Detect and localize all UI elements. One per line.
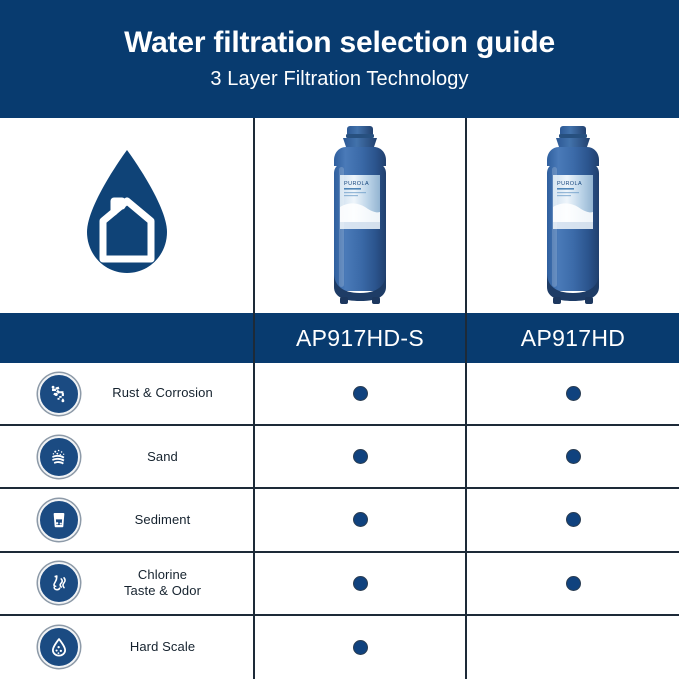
cell-ap917hd-s [255,489,467,550]
feature-label-line1: Sand [147,449,178,464]
page-title: Water filtration selection guide [124,27,555,59]
cell-ap917hd-s [255,553,467,614]
cell-ap917hd [467,553,679,614]
page-subtitle: 3 Layer Filtration Technology [210,68,468,91]
support-dot [354,450,367,463]
feature-label-line1: Rust & Corrosion [112,385,213,400]
model-name-row: AP917HD-S AP917HD [0,313,679,363]
support-dot [354,513,367,526]
support-dot [354,387,367,400]
cell-ap917hd [467,489,679,550]
support-dot [567,577,580,590]
cell-ap917hd-s [255,616,467,679]
feature-label-line2: Taste & Odor [80,583,245,599]
product-image-row: PUROLA [0,118,679,313]
support-dot [567,513,580,526]
feature-label-text: Chlorine Taste & Odor [80,567,253,600]
svg-text:PUROLA: PUROLA [557,181,582,187]
table-row: Hard Scale [0,616,679,679]
water-filter-cartridge-image: PUROLA [537,123,609,308]
product-image-ap917hd-s: PUROLA [255,118,467,313]
brand-logo-cell [0,118,255,313]
model-row-spacer [0,313,255,363]
support-dot [354,641,367,654]
header-banner: Water filtration selection guide 3 Layer… [0,0,679,118]
table-row: Chlorine Taste & Odor [0,553,679,616]
chlorine-odor-nose-icon [38,562,80,604]
hard-scale-droplet-icon [38,626,80,668]
cell-ap917hd [467,616,679,679]
feature-label-text: Rust & Corrosion [80,385,253,401]
feature-label-text: Hard Scale [80,639,253,655]
product-image-ap917hd: PUROLA [467,118,679,313]
cell-ap917hd-s [255,363,467,424]
feature-label-text: Sediment [80,512,253,528]
sediment-glass-icon [38,499,80,541]
column-header-ap917hd-s: AP917HD-S [255,313,467,363]
support-dot [567,450,580,463]
table-row: Sediment [0,489,679,552]
feature-label-line1: Hard Scale [130,639,195,654]
column-header-ap917hd: AP917HD [467,313,679,363]
feature-label-line1: Sediment [135,512,191,527]
feature-label-cell: Hard Scale [0,616,255,679]
support-dot [354,577,367,590]
feature-label-cell: Sediment [0,489,255,550]
comparison-table-body: Rust & Corrosion [0,363,679,679]
support-dot [567,387,580,400]
water-filter-cartridge-image: PUROLA [324,123,396,308]
feature-label-cell: Rust & Corrosion [0,363,255,424]
support-dot-absent [567,641,580,654]
water-filtration-selection-guide: Water filtration selection guide 3 Layer… [0,0,679,679]
table-row: Sand [0,426,679,489]
feature-label-text: Sand [80,449,253,465]
feature-label-cell: Chlorine Taste & Odor [0,553,255,614]
cell-ap917hd-s [255,426,467,487]
cell-ap917hd [467,426,679,487]
svg-text:PUROLA: PUROLA [344,181,369,187]
sand-particles-icon [38,436,80,478]
table-row: Rust & Corrosion [0,363,679,426]
faucet-rust-icon [38,373,80,415]
feature-label-cell: Sand [0,426,255,487]
cell-ap917hd [467,363,679,424]
feature-label-line1: Chlorine [138,567,187,582]
water-droplet-house-icon [73,146,181,286]
